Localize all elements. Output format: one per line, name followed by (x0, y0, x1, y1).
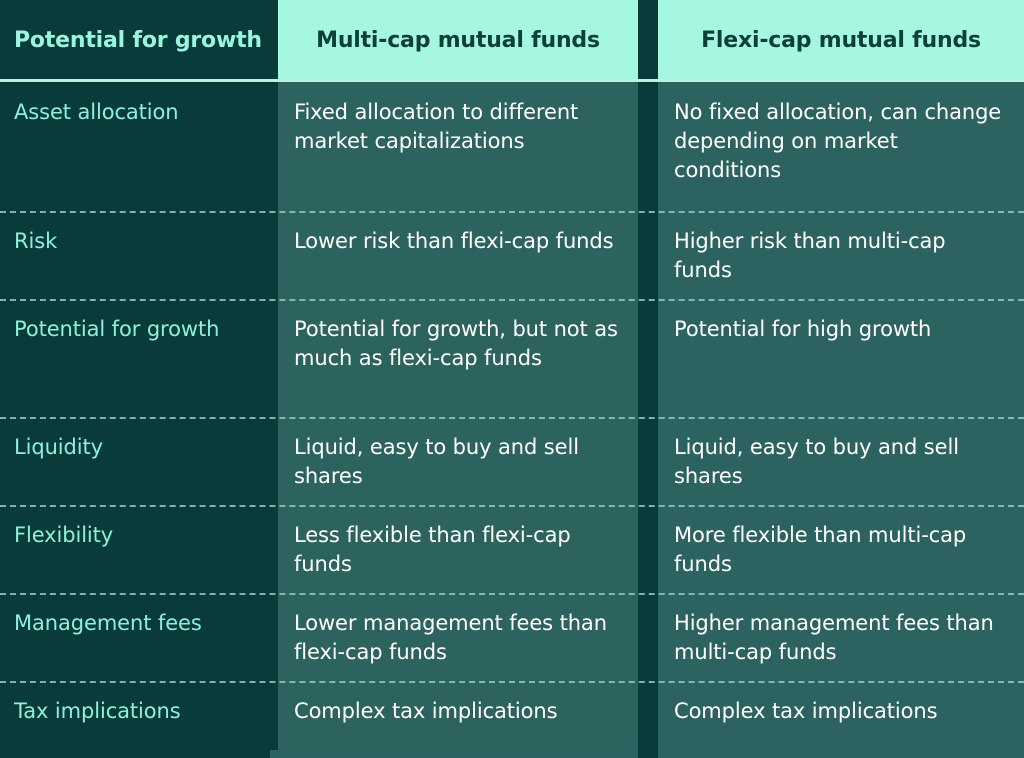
table-header-row: Potential for growth Multi-cap mutual fu… (0, 0, 1024, 82)
row-flexi-cap-text: Liquid, easy to buy and sell shares (674, 433, 1006, 491)
row-feature-cell: Management fees (0, 593, 270, 681)
row-multi-cap-cell: Liquid, easy to buy and sell shares (278, 417, 638, 505)
row-multi-cap-cell: Fixed allocation to different market cap… (278, 82, 638, 211)
header-gap-1 (270, 0, 278, 82)
column-header-multi-cap-label: Multi-cap mutual funds (316, 29, 600, 53)
table-row: Potential for growth Potential for growt… (0, 299, 1024, 417)
row-flexi-cap-cell: No fixed allocation, can change dependin… (658, 82, 1024, 211)
row-multi-cap-text: Liquid, easy to buy and sell shares (294, 433, 620, 491)
table-row: Liquidity Liquid, easy to buy and sell s… (0, 417, 1024, 505)
row-feature-label: Potential for growth (14, 315, 219, 344)
row-flexi-cap-text: Higher management fees than multi-cap fu… (674, 609, 1006, 667)
row-column-divider (638, 505, 658, 593)
table-row: Risk Lower risk than flexi-cap funds Hig… (0, 211, 1024, 299)
row-feature-cell: Asset allocation (0, 82, 270, 211)
table-bottom-edge-col1 (0, 750, 270, 758)
header-underline (0, 79, 1024, 82)
row-multi-cap-cell: Less flexible than flexi-cap funds (278, 505, 638, 593)
row-multi-cap-text: Lower management fees than flexi-cap fun… (294, 609, 620, 667)
row-gap-1 (270, 593, 278, 681)
column-header-feature: Potential for growth (0, 0, 270, 82)
header-column-divider (638, 0, 658, 82)
row-flexi-cap-text: No fixed allocation, can change dependin… (674, 98, 1006, 185)
row-feature-label: Asset allocation (14, 98, 179, 127)
row-feature-cell: Potential for growth (0, 299, 270, 417)
row-multi-cap-text: Complex tax implications (294, 697, 557, 726)
row-column-divider (638, 417, 658, 505)
row-flexi-cap-cell: Higher risk than multi-cap funds (658, 211, 1024, 299)
row-gap-1 (270, 681, 278, 753)
row-column-divider (638, 82, 658, 211)
row-feature-label: Liquidity (14, 433, 103, 462)
row-flexi-cap-text: More flexible than multi-cap funds (674, 521, 1006, 579)
row-flexi-cap-cell: Potential for high growth (658, 299, 1024, 417)
table-bottom-edge (0, 750, 1024, 758)
column-header-feature-label: Potential for growth (14, 29, 262, 53)
row-column-divider (638, 681, 658, 753)
row-feature-label: Management fees (14, 609, 202, 638)
row-gap-1 (270, 299, 278, 417)
comparison-table: Potential for growth Multi-cap mutual fu… (0, 0, 1024, 758)
column-header-flexi-cap: Flexi-cap mutual funds (658, 0, 1024, 82)
row-feature-label: Flexibility (14, 521, 113, 550)
row-multi-cap-cell: Lower management fees than flexi-cap fun… (278, 593, 638, 681)
row-multi-cap-cell: Complex tax implications (278, 681, 638, 753)
row-multi-cap-cell: Lower risk than flexi-cap funds (278, 211, 638, 299)
row-multi-cap-cell: Potential for growth, but not as much as… (278, 299, 638, 417)
row-flexi-cap-text: Potential for high growth (674, 315, 931, 344)
column-header-multi-cap: Multi-cap mutual funds (278, 0, 638, 82)
row-flexi-cap-text: Higher risk than multi-cap funds (674, 227, 1006, 285)
row-feature-cell: Tax implications (0, 681, 270, 753)
row-gap-1 (270, 211, 278, 299)
row-column-divider (638, 211, 658, 299)
row-multi-cap-text: Potential for growth, but not as much as… (294, 315, 620, 373)
table-bottom-edge-divider (638, 750, 658, 758)
table-row: Tax implications Complex tax implication… (0, 681, 1024, 753)
table-row: Flexibility Less flexible than flexi-cap… (0, 505, 1024, 593)
row-gap-1 (270, 82, 278, 211)
row-multi-cap-text: Lower risk than flexi-cap funds (294, 227, 613, 256)
row-column-divider (638, 593, 658, 681)
row-flexi-cap-cell: Complex tax implications (658, 681, 1024, 753)
row-gap-1 (270, 417, 278, 505)
row-multi-cap-text: Fixed allocation to different market cap… (294, 98, 620, 156)
row-flexi-cap-cell: Higher management fees than multi-cap fu… (658, 593, 1024, 681)
row-feature-cell: Flexibility (0, 505, 270, 593)
row-feature-label: Tax implications (14, 697, 181, 726)
table-row: Asset allocation Fixed allocation to dif… (0, 82, 1024, 211)
row-multi-cap-text: Less flexible than flexi-cap funds (294, 521, 620, 579)
row-gap-1 (270, 505, 278, 593)
row-feature-label: Risk (14, 227, 57, 256)
column-header-flexi-cap-label: Flexi-cap mutual funds (701, 29, 981, 53)
table-body: Asset allocation Fixed allocation to dif… (0, 82, 1024, 758)
row-feature-cell: Risk (0, 211, 270, 299)
row-flexi-cap-text: Complex tax implications (674, 697, 937, 726)
row-feature-cell: Liquidity (0, 417, 270, 505)
row-flexi-cap-cell: Liquid, easy to buy and sell shares (658, 417, 1024, 505)
table-row: Management fees Lower management fees th… (0, 593, 1024, 681)
row-column-divider (638, 299, 658, 417)
row-flexi-cap-cell: More flexible than multi-cap funds (658, 505, 1024, 593)
